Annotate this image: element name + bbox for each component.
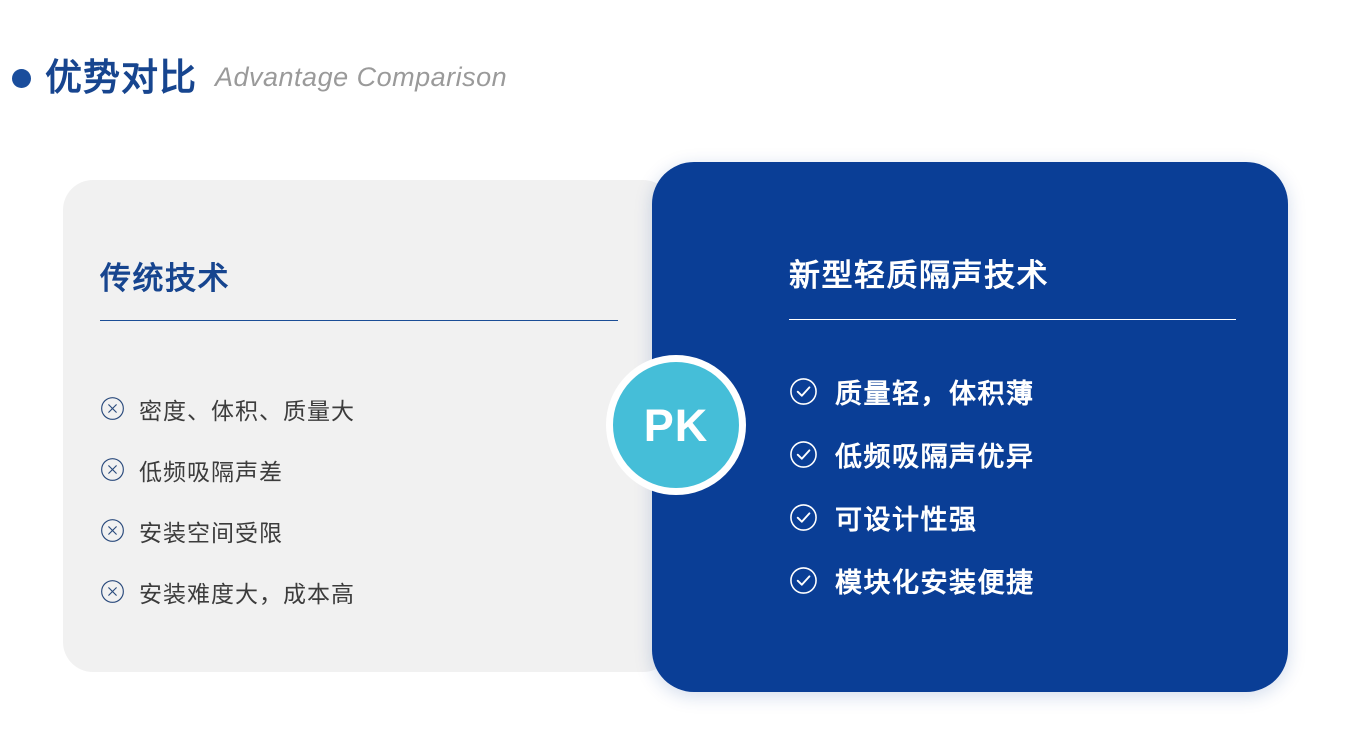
pk-versus-badge: PK — [606, 355, 746, 495]
card-traditional-inner: 传统技术 密度、体积、质量大 低频吸隔声差 — [63, 180, 673, 672]
circle-x-icon — [100, 396, 125, 421]
list-item: 可设计性强 — [789, 486, 1249, 549]
card-new-technology: 新型轻质隔声技术 质量轻，体积薄 低频吸隔声优异 — [652, 162, 1288, 692]
list-item-label: 密度、体积、质量大 — [139, 392, 355, 426]
traditional-feature-list: 密度、体积、质量大 低频吸隔声差 安装空间受限 — [100, 378, 620, 622]
page-title: 优势对比 — [45, 59, 197, 96]
circle-x-icon — [100, 518, 125, 543]
section-header: 优势对比 Advantage Comparison — [0, 46, 507, 108]
circle-check-icon — [789, 566, 818, 595]
card-traditional-technology: 传统技术 密度、体积、质量大 低频吸隔声差 — [63, 180, 673, 672]
pk-badge-label: PK — [644, 403, 709, 448]
card-new-title: 新型轻质隔声技术 — [789, 260, 1049, 291]
list-item: 安装难度大，成本高 — [100, 561, 620, 622]
bullet-dot-icon — [12, 69, 31, 88]
circle-x-icon — [100, 579, 125, 604]
card-traditional-title: 传统技术 — [100, 263, 230, 294]
list-item-label: 低频吸隔声差 — [139, 453, 283, 487]
list-item: 低频吸隔声优异 — [789, 423, 1249, 486]
list-item: 密度、体积、质量大 — [100, 378, 620, 439]
list-item-label: 模块化安装便捷 — [835, 561, 1035, 600]
list-item: 低频吸隔声差 — [100, 439, 620, 500]
list-item-label: 低频吸隔声优异 — [835, 435, 1035, 474]
circle-x-icon — [100, 457, 125, 482]
list-item-label: 质量轻，体积薄 — [835, 372, 1035, 411]
page-subtitle: Advantage Comparison — [215, 64, 507, 91]
card-new-divider — [789, 319, 1236, 320]
circle-check-icon — [789, 503, 818, 532]
list-item: 质量轻，体积薄 — [789, 360, 1249, 423]
list-item-label: 安装难度大，成本高 — [139, 575, 355, 609]
circle-check-icon — [789, 440, 818, 469]
list-item-label: 安装空间受限 — [139, 514, 283, 548]
circle-check-icon — [789, 377, 818, 406]
list-item-label: 可设计性强 — [835, 498, 978, 537]
card-traditional-divider — [100, 320, 618, 321]
list-item: 模块化安装便捷 — [789, 549, 1249, 612]
new-feature-list: 质量轻，体积薄 低频吸隔声优异 可设计性强 — [789, 360, 1249, 612]
card-new-inner: 新型轻质隔声技术 质量轻，体积薄 低频吸隔声优异 — [652, 162, 1288, 692]
list-item: 安装空间受限 — [100, 500, 620, 561]
